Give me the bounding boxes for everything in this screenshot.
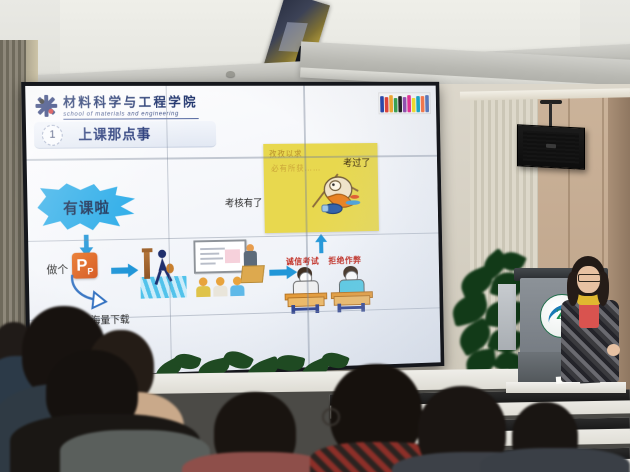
logo-chinese-name: 材料科学与工程学院 — [63, 92, 198, 111]
audience-figure-icon — [213, 277, 228, 297]
smoke-detector-icon — [226, 71, 235, 77]
speaker-badge — [546, 144, 556, 149]
presenter-shirt — [579, 302, 599, 328]
whiteboard-icon — [193, 239, 247, 273]
podium-side-panel — [498, 284, 516, 350]
classroom-graphic — [191, 239, 264, 297]
cartoon-pig-icon — [306, 162, 364, 222]
presenter-hand — [607, 344, 620, 356]
burst-callout: 有课啦 — [37, 183, 136, 232]
exam-desk-graphic — [330, 265, 371, 310]
audience-figure-icon — [196, 277, 211, 297]
slide-org-logo: 材料科学与工程学院 school of materials and engine… — [35, 92, 198, 120]
audience-figure-icon — [230, 276, 244, 296]
slide-title: 上课那点事 — [78, 124, 151, 144]
presenter — [555, 256, 625, 386]
slide-title-bar: 1 上课那点事 — [34, 121, 216, 149]
school-emblem-icon — [35, 95, 57, 117]
exam-desk-graphic — [284, 267, 325, 312]
audience-shoulders — [480, 448, 630, 472]
bookshelf-image — [378, 92, 431, 114]
logo-english-name: school of materials and engineering — [63, 111, 198, 120]
up-arrow-icon — [315, 234, 327, 254]
ceiling-speaker — [517, 124, 585, 170]
student-walking-icon — [150, 249, 176, 289]
assessment-label: 考核有了 — [225, 194, 263, 209]
presenter-glasses-icon — [578, 274, 601, 282]
audience-glasses-icon — [322, 408, 340, 426]
make-ppt-label: 做个 — [46, 261, 68, 277]
lecture-hall-screenshot: 材料科学与工程学院 school of materials and engine… — [0, 0, 630, 472]
section-number-badge: 1 — [42, 124, 63, 145]
teacher-body-icon — [244, 251, 257, 267]
